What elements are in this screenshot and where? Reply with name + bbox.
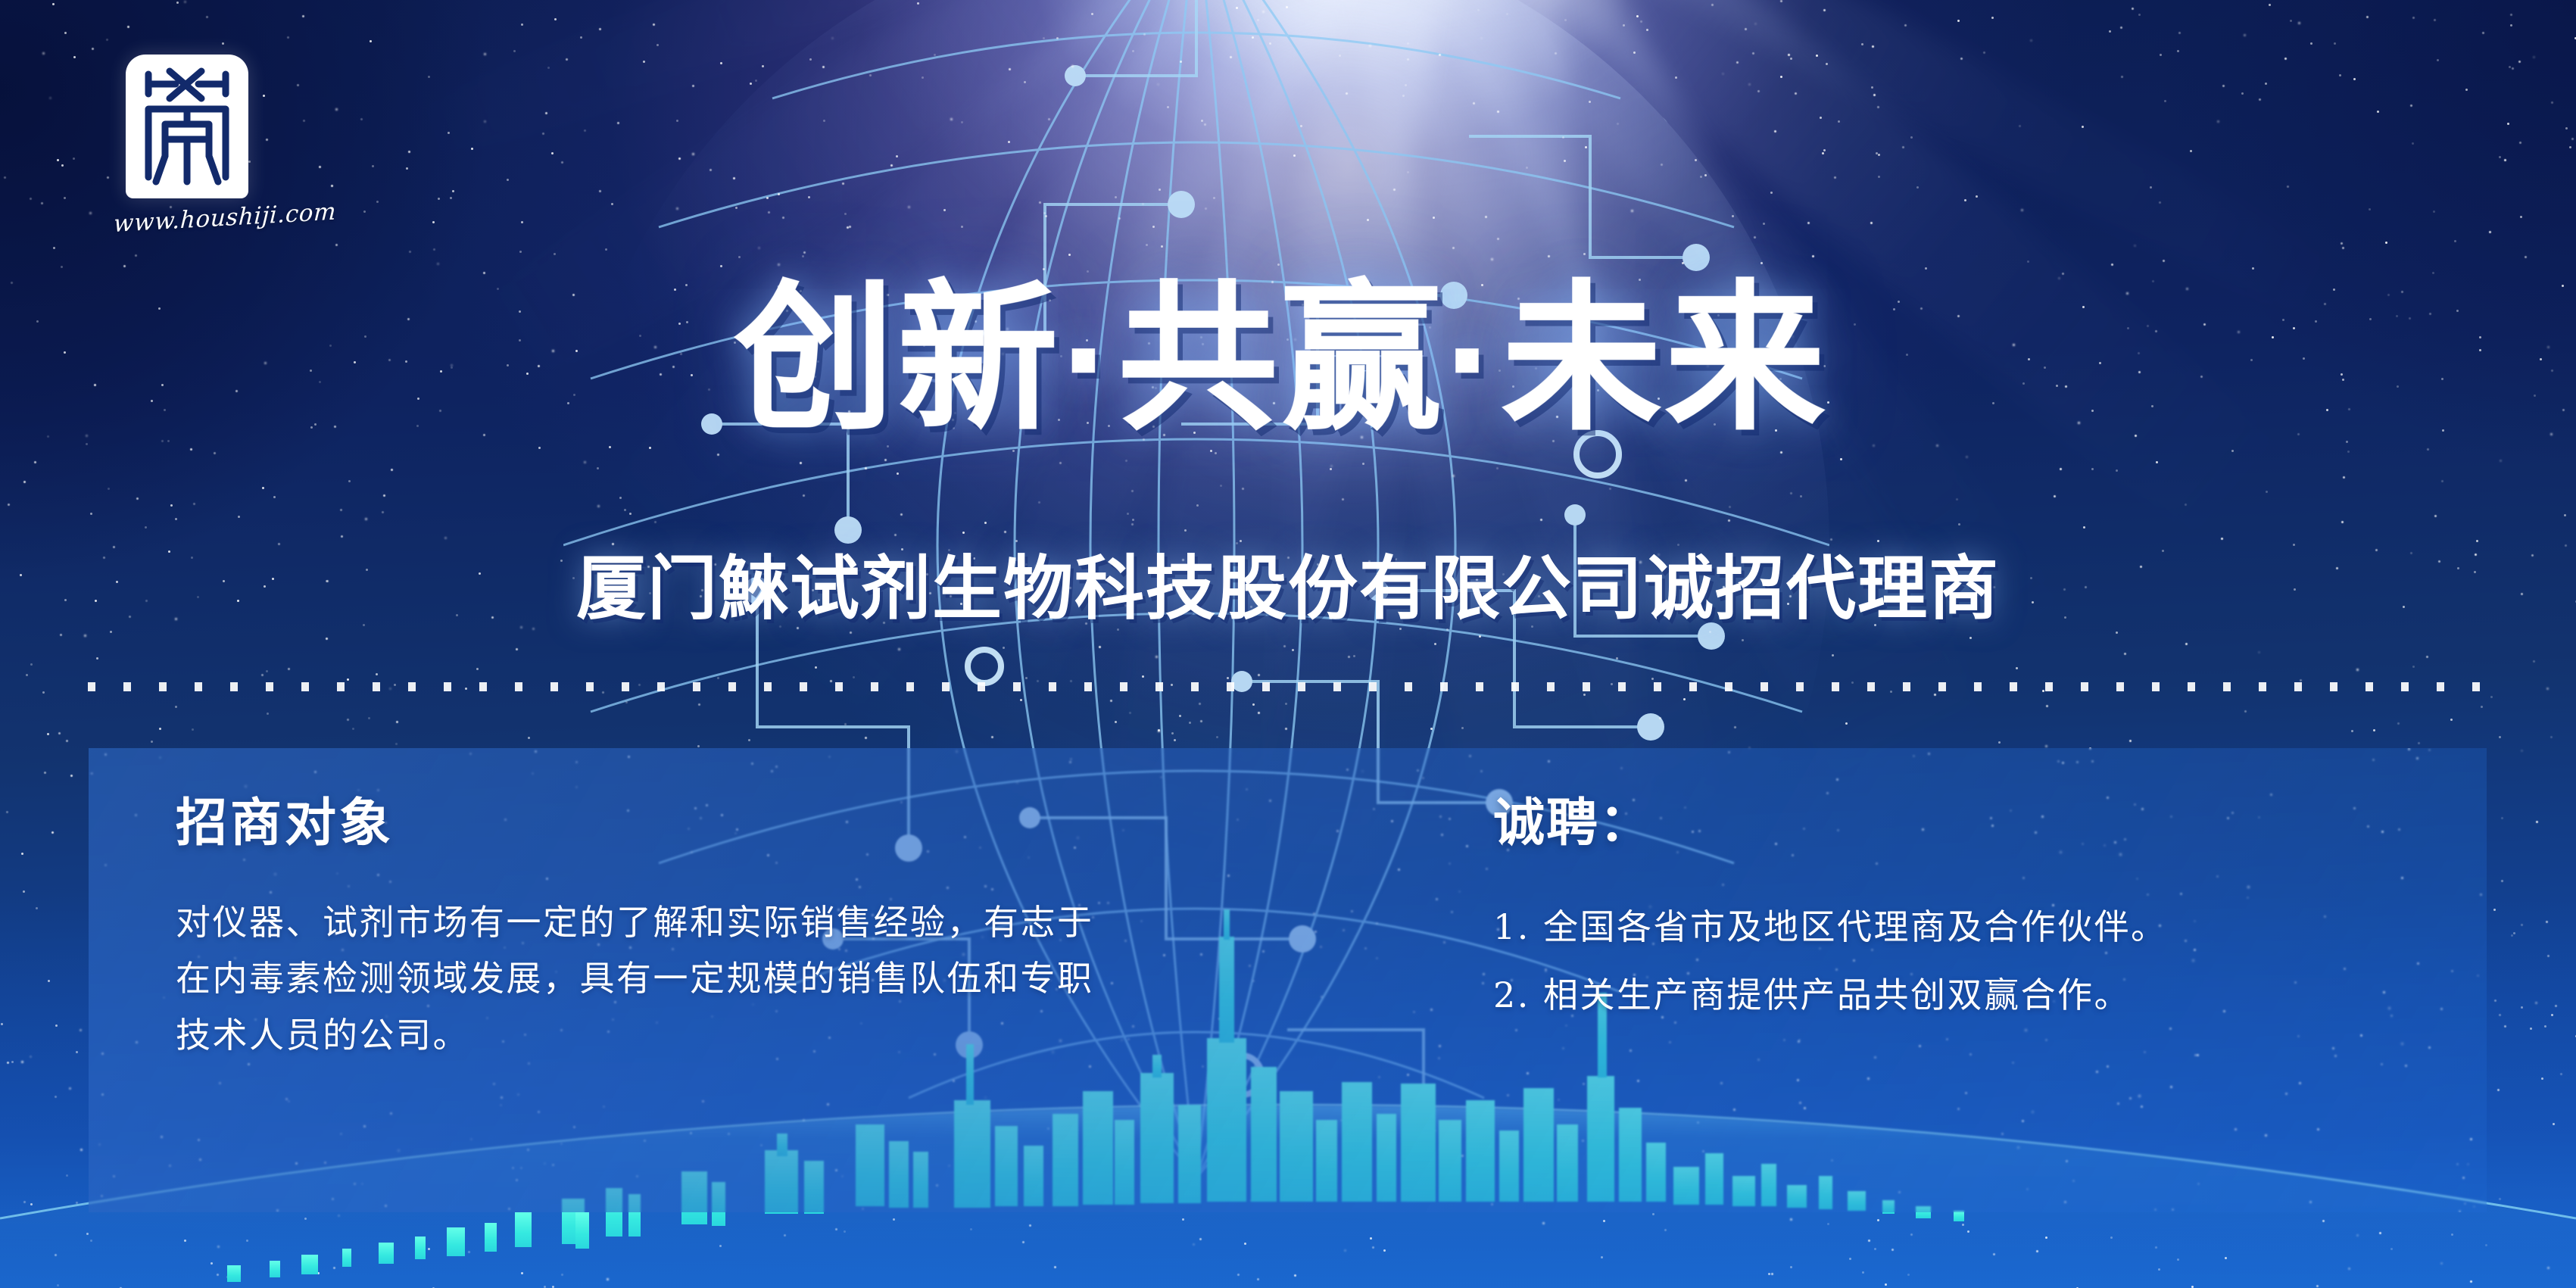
recruitment-target-title: 招商对象	[176, 795, 1421, 852]
list-item: 1. 全国各省市及地区代理商及合作伙伴。	[1493, 899, 2487, 956]
body-line: 对仪器、试剂市场有一定的了解和实际销售经验，有志于	[176, 894, 1421, 951]
hiring-body: 1. 全国各省市及地区代理商及合作伙伴。 2. 相关生产商提供产品共创双赢合作。	[1493, 899, 2487, 1024]
recruitment-target-body: 对仪器、试剂市场有一定的了解和实际销售经验，有志于 在内毒素检测领域发展，具有一…	[176, 894, 1421, 1064]
hiring-title: 诚聘：	[1493, 795, 2487, 852]
brand-logo[interactable]: www.houshiji.com	[114, 55, 326, 238]
headline-block: 创新·共赢·未来	[0, 279, 2576, 439]
page-title: 创新·共赢·未来	[734, 279, 1842, 439]
website-url[interactable]: www.houshiji.com	[113, 198, 326, 238]
list-item: 2. 相关生产商提供产品共创双赢合作。	[1493, 967, 2487, 1024]
hiring-column: 诚聘： 1. 全国各省市及地区代理商及合作伙伴。 2. 相关生产商提供产品共创双…	[1421, 748, 2487, 1212]
body-line: 技术人员的公司。	[176, 1007, 1421, 1064]
seal-stamp-logo-icon	[126, 55, 248, 198]
info-panel: 招商对象 对仪器、试剂市场有一定的了解和实际销售经验，有志于 在内毒素检测领域发…	[89, 748, 2487, 1212]
banner-canvas: www.houshiji.com 创新·共赢·未来 厦门鯠试剂生物科技股份有限公…	[0, 0, 2576, 1288]
page-subtitle: 厦门鯠试剂生物科技股份有限公司诚招代理商	[0, 553, 2576, 626]
dotted-divider-icon	[88, 682, 2487, 691]
recruitment-target-column: 招商对象 对仪器、试剂市场有一定的了解和实际销售经验，有志于 在内毒素检测领域发…	[89, 748, 1421, 1212]
body-line: 在内毒素检测领域发展，具有一定规模的销售队伍和专职	[176, 950, 1421, 1007]
